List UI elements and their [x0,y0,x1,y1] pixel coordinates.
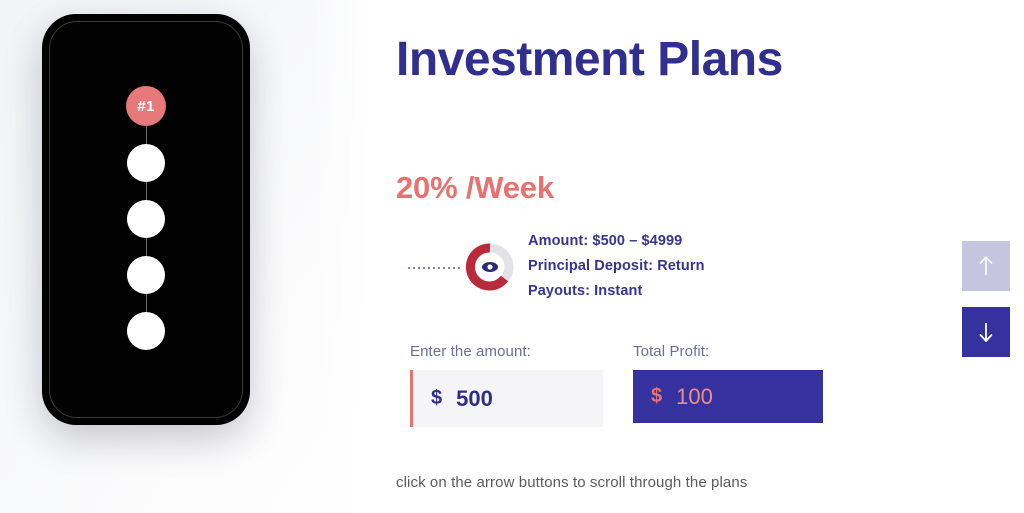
step-connector [146,294,147,312]
plan-step-2[interactable] [127,144,165,182]
plan-step-3[interactable] [127,200,165,238]
step-connector [146,238,147,256]
page-title: Investment Plans [396,34,783,87]
plan-details: Amount: $500 – $4999 Principal Deposit: … [408,231,705,302]
amount-field-group: Enter the amount: $ 500 [410,343,603,427]
plan-details-text: Amount: $500 – $4999 Principal Deposit: … [528,231,705,302]
plan-step-4[interactable] [127,256,165,294]
profit-calculator: Enter the amount: $ 500 Total Profit: $ … [410,343,823,427]
eye-donut-icon [464,241,516,293]
profit-label: Total Profit: [633,343,823,360]
left-visual-panel: #1 [0,0,372,513]
amount-input[interactable]: $ 500 [410,370,603,427]
step-connector [146,126,147,144]
plan-step-list: #1 [50,86,242,350]
arrow-up-icon [976,254,996,278]
dollar-icon: $ [431,387,442,410]
plan-step-1-label: #1 [137,98,154,115]
detail-payouts: Payouts: Instant [528,281,705,302]
profit-output: $ 100 [633,370,823,423]
detail-amount: Amount: $500 – $4999 [528,231,705,252]
plan-step-1[interactable]: #1 [126,86,166,126]
plan-rate: 20% /Week [396,170,554,206]
detail-principal-deposit: Principal Deposit: Return [528,256,705,277]
dollar-icon: $ [651,385,662,408]
profit-field-group: Total Profit: $ 100 [633,343,823,427]
profit-value: 100 [676,384,713,410]
step-connector [146,182,147,200]
amount-label: Enter the amount: [410,343,603,360]
scroll-down-button[interactable] [962,307,1010,357]
plan-step-5[interactable] [127,312,165,350]
phone-mockup: #1 [42,14,250,425]
investment-plans-page: #1 [0,0,1024,513]
plan-content: Investment Plans 20% /Week Amount: $500 … [396,0,956,513]
scroll-up-button[interactable] [962,241,1010,291]
amount-value[interactable]: 500 [456,386,493,412]
dotted-leader-line [408,267,460,269]
scroll-hint: click on the arrow buttons to scroll thr… [396,474,747,491]
arrow-down-icon [976,320,996,344]
phone-screen: #1 [49,21,243,418]
